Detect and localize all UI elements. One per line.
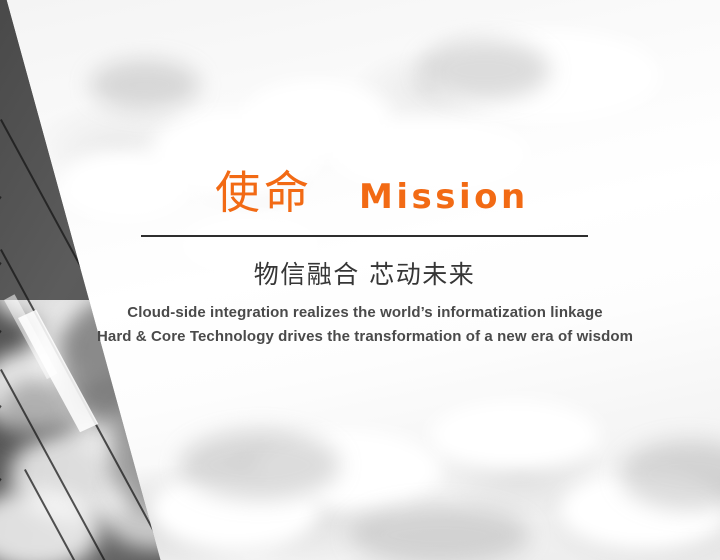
headline: 使命 Mission <box>141 170 588 215</box>
tagline-line-1: Cloud-side integration realizes the worl… <box>60 301 670 325</box>
subtitle-chinese: 物信融合 芯动未来 <box>141 258 588 292</box>
tagline-line-2: Hard & Core Technology drives the transf… <box>60 325 670 349</box>
cloud-shadow <box>90 60 200 110</box>
headline-chinese: 使命 <box>141 170 313 215</box>
cloud-shadow <box>350 505 530 560</box>
cloud-puff <box>430 400 600 470</box>
cloud-shadow <box>420 40 550 100</box>
headline-english: Mission <box>313 180 529 214</box>
cloud-shadow <box>180 430 340 500</box>
headline-divider <box>141 235 588 237</box>
mission-banner: 使命 Mission 物信融合 芯动未来 Cloud-side integrat… <box>0 0 720 560</box>
tagline-block: Cloud-side integration realizes the worl… <box>60 301 670 349</box>
